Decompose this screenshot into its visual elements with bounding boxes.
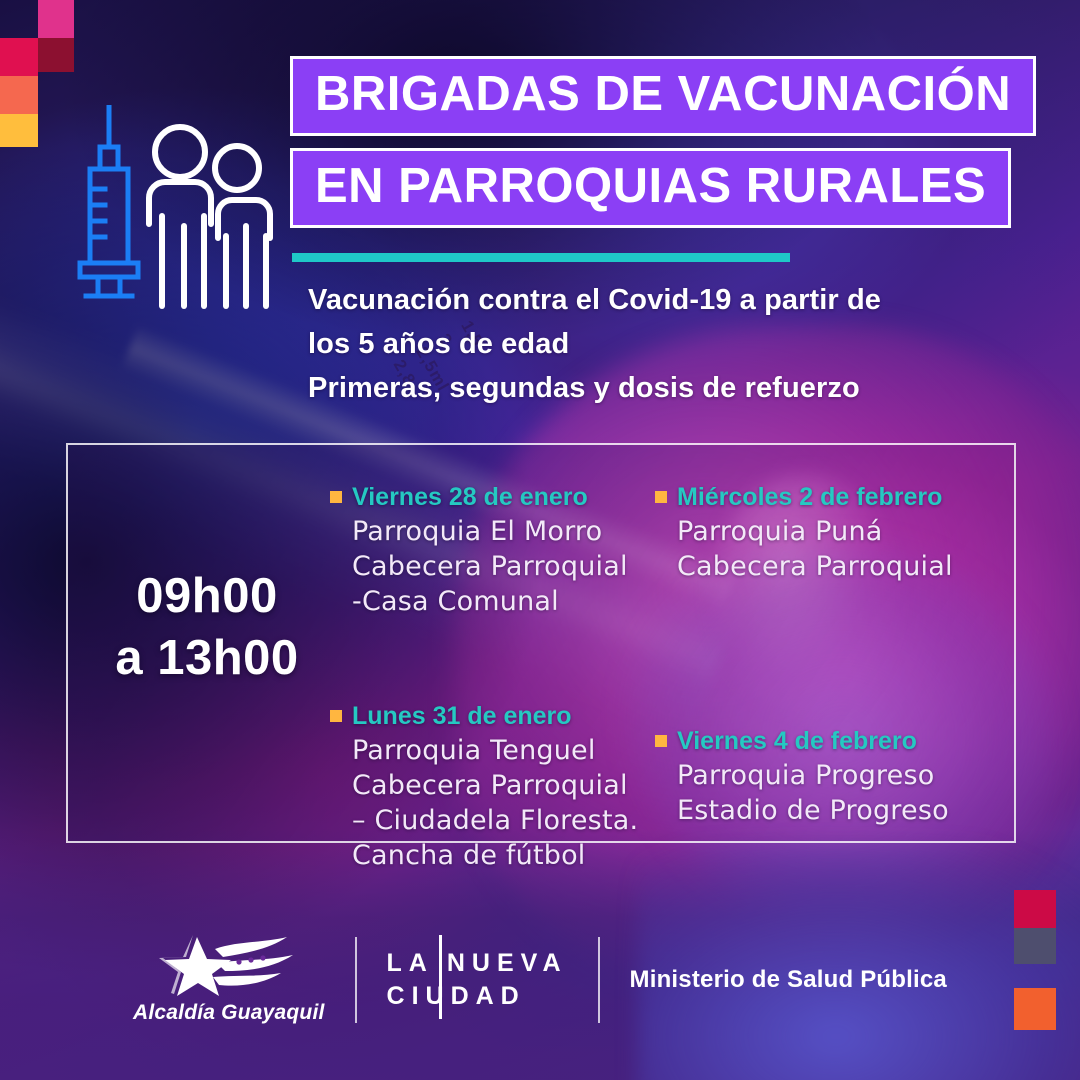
subtitle-line-2: los 5 años de edad — [308, 322, 1018, 366]
schedule-entry: Lunes 31 de enero Parroquia Tenguel Cabe… — [330, 699, 645, 873]
schedule-date-row: Miércoles 2 de febrero — [655, 480, 970, 514]
schedule-place: Parroquia El Morro Cabecera Parroquial -… — [330, 514, 645, 619]
la-nueva-ciudad-logo: LA NUEVA CIUDAD — [387, 947, 568, 1013]
star-logo-icon — [153, 935, 305, 997]
schedule-date: Lunes 31 de enero — [352, 699, 572, 733]
subtitle-line-3: Primeras, segundas y dosis de refuerzo — [308, 366, 1018, 410]
schedule-entry: Viernes 28 de enero Parroquia El Morro C… — [330, 480, 645, 619]
schedule-grid: Viernes 28 de enero Parroquia El Morro C… — [330, 480, 1010, 895]
hours-block: 09h00 a 13h00 — [92, 565, 322, 689]
schedule-place-line: Parroquia Progreso — [677, 758, 970, 793]
title-underline-rule — [292, 253, 790, 262]
schedule-place-line: -Casa Comunal — [352, 584, 645, 619]
schedule-column-left: Viernes 28 de enero Parroquia El Morro C… — [330, 480, 645, 895]
bullet-square-icon — [330, 710, 342, 722]
pixel-block-magenta — [38, 0, 74, 38]
alcaldia-label: Alcaldía Guayaquil — [133, 1001, 325, 1025]
alcaldia-guayaquil-logo: Alcaldía Guayaquil — [133, 935, 325, 1025]
pixel-block-salmon — [0, 76, 38, 114]
bullet-square-icon — [655, 735, 667, 747]
poster-subtitle: Vacunación contra el Covid-19 a partir d… — [308, 278, 1018, 410]
poster-canvas: 1,5 2 2,5ml 2,8 — [0, 0, 1080, 1080]
subtitle-line-1: Vacunación contra el Covid-19 a partir d… — [308, 278, 1018, 322]
schedule-place-line: Cancha de fútbol — [352, 838, 645, 873]
ministerio-label: Ministerio de Salud Pública — [630, 966, 947, 994]
nc-vertical-bar — [439, 935, 442, 1019]
pixel-block-crimson — [0, 38, 38, 76]
schedule-place: Parroquia Tenguel Cabecera Parroquial – … — [330, 733, 645, 873]
poster-title: BRIGADAS DE VACUNACIÓN EN PARROQUIAS RUR… — [290, 56, 1080, 228]
schedule-entry: Viernes 4 de febrero Parroquia Progreso … — [655, 724, 970, 828]
title-line-1: BRIGADAS DE VACUNACIÓN — [290, 56, 1036, 136]
hours-line-2: a 13h00 — [92, 627, 322, 689]
ministerio-salud-logo: Ministerio de Salud Pública — [630, 966, 947, 994]
nc-line-2: CIUDAD — [387, 980, 568, 1013]
hours-line-1: 09h00 — [92, 565, 322, 627]
schedule-place-line: Parroquia Puná — [677, 514, 970, 549]
schedule-place-line: Cabecera Parroquial — [352, 768, 645, 803]
schedule-date-row: Viernes 28 de enero — [330, 480, 645, 514]
bullet-square-icon — [655, 491, 667, 503]
footer-divider — [355, 937, 357, 1023]
title-line-2: EN PARROQUIAS RURALES — [290, 148, 1011, 228]
schedule-place: Parroquia Progreso Estadio de Progreso — [655, 758, 970, 828]
schedule-place: Parroquia Puná Cabecera Parroquial — [655, 514, 970, 584]
schedule-date-row: Viernes 4 de febrero — [655, 724, 970, 758]
bullet-square-icon — [330, 491, 342, 503]
schedule-date-row: Lunes 31 de enero — [330, 699, 645, 733]
schedule-place-line: Parroquia Tenguel — [352, 733, 645, 768]
column-spacer — [655, 606, 970, 724]
schedule-place-line: Cabecera Parroquial — [352, 549, 645, 584]
schedule-place-line: Cabecera Parroquial — [677, 549, 970, 584]
people-group-icon — [140, 120, 280, 315]
schedule-date: Viernes 4 de febrero — [677, 724, 917, 758]
schedule-column-right: Miércoles 2 de febrero Parroquia Puná Ca… — [655, 480, 970, 895]
schedule-entry: Miércoles 2 de febrero Parroquia Puná Ca… — [655, 480, 970, 584]
pixel-block-darkred — [38, 38, 74, 72]
pixel-block-amber — [0, 114, 38, 147]
schedule-date: Viernes 28 de enero — [352, 480, 588, 514]
schedule-place-line: Estadio de Progreso — [677, 793, 970, 828]
schedule-place-line: – Ciudadela Floresta. — [352, 803, 645, 838]
nc-line-1: LA NUEVA — [387, 947, 568, 980]
footer-logos: Alcaldía Guayaquil LA NUEVA CIUDAD Minis… — [0, 920, 1080, 1040]
column-spacer — [330, 641, 645, 699]
footer-divider — [598, 937, 600, 1023]
schedule-date: Miércoles 2 de febrero — [677, 480, 942, 514]
schedule-place-line: Parroquia El Morro — [352, 514, 645, 549]
syringe-icon — [72, 105, 146, 305]
